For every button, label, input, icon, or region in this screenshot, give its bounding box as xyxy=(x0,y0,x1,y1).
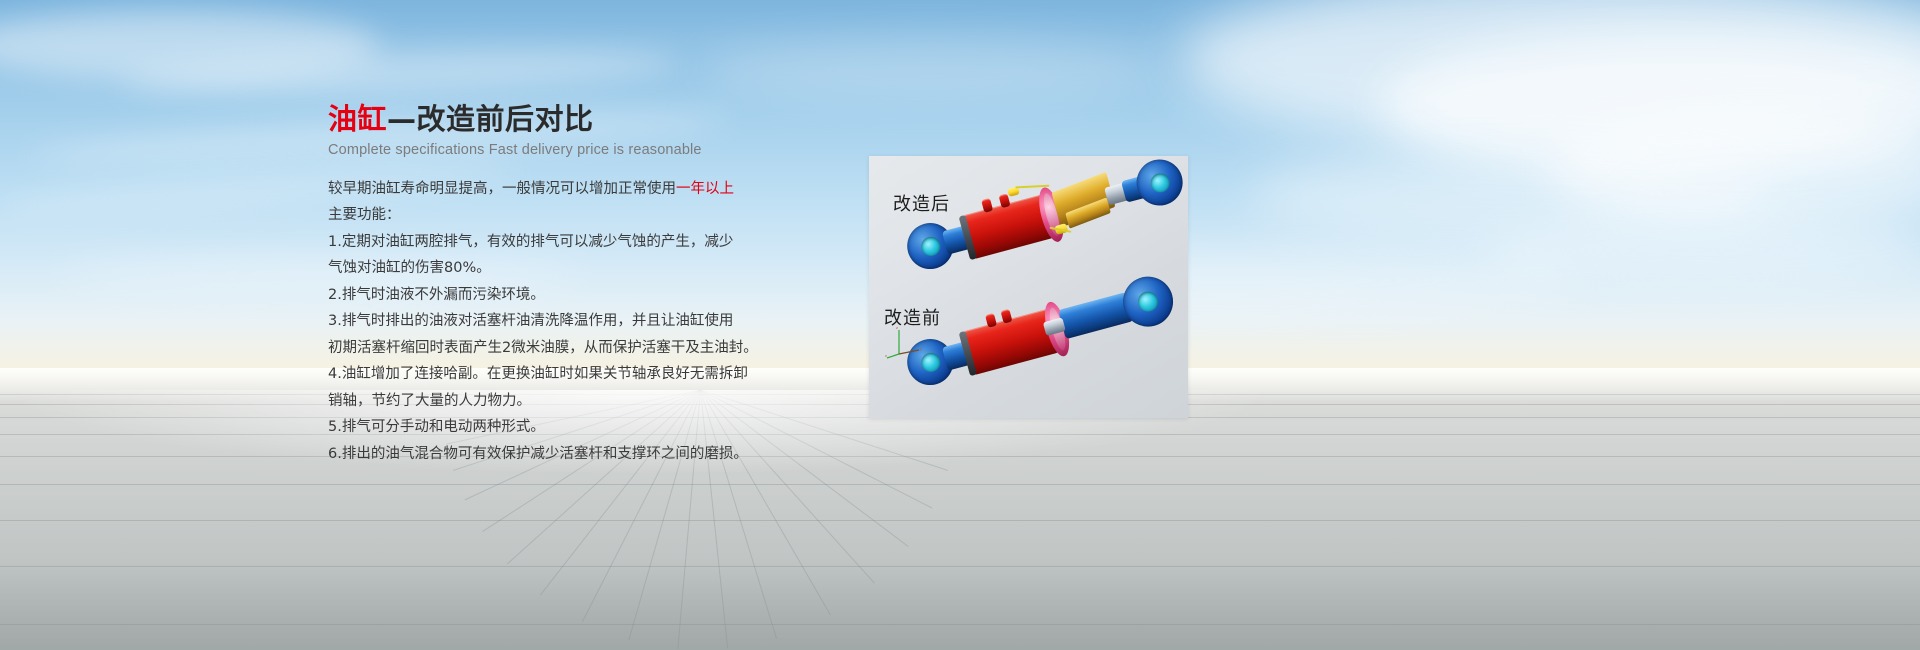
body-line: 气蚀对油缸的伤害80%。 xyxy=(328,255,848,282)
body-line: 销轴，节约了大量的人力物力。 xyxy=(328,388,848,415)
body-line: 2.排气时油液不外漏而污染环境。 xyxy=(328,282,848,309)
body-line-text: 主要功能： xyxy=(328,207,401,223)
body-line-highlight: 一年以上 xyxy=(676,181,734,197)
label-after-modification: 改造后 xyxy=(893,190,950,216)
body-line-text: 初期活塞杆缩回时表面产生2微米油膜，从而保护活塞干及主油封。 xyxy=(328,340,758,356)
svg-text:z: z xyxy=(896,325,898,330)
cloud-streak-icon xyxy=(700,40,1160,100)
body-line-text: 气蚀对油缸的伤害80%。 xyxy=(328,260,491,276)
feature-text-block: 较早期油缸寿命明显提高，一般情况可以增加正常使用一年以上 主要功能： 1.定期对… xyxy=(328,176,848,468)
body-line-text: 1.定期对油缸两腔排气，有效的排气可以减少气蚀的产生，减少 xyxy=(328,234,733,250)
body-line-text: 较早期油缸寿命明显提高，一般情况可以增加正常使用 xyxy=(328,181,676,197)
page-title-highlight: 油缸 xyxy=(328,102,387,136)
body-line: 5.排气可分手动和电动两种形式。 xyxy=(328,414,848,441)
page-title: 油缸—改造前后对比 xyxy=(328,104,848,136)
product-comparison-panel: 改造后 改造前 z y x xyxy=(869,156,1188,418)
body-line-text: 2.排气时油液不外漏而污染环境。 xyxy=(328,287,545,303)
promo-banner: 油缸—改造前后对比 Complete specifications Fast d… xyxy=(0,0,1920,650)
body-line-text: 4.油缸增加了连接哈副。在更换油缸时如果关节轴承良好无需拆卸 xyxy=(328,366,748,382)
banner-text-column: 油缸—改造前后对比 Complete specifications Fast d… xyxy=(328,104,848,467)
page-title-rest: —改造前后对比 xyxy=(387,102,594,136)
body-line: 4.油缸增加了连接哈副。在更换油缸时如果关节轴承良好无需拆卸 xyxy=(328,361,848,388)
ground-shadow xyxy=(0,560,1920,650)
body-line: 主要功能： xyxy=(328,202,848,229)
body-line: 6.排出的油气混合物可有效保护减少活塞杆和支撑环之间的磨损。 xyxy=(328,441,848,468)
body-line: 初期活塞杆缩回时表面产生2微米油膜，从而保护活塞干及主油封。 xyxy=(328,335,848,362)
body-line-text: 销轴，节约了大量的人力物力。 xyxy=(328,393,531,409)
body-line: 1.定期对油缸两腔排气，有效的排气可以减少气蚀的产生，减少 xyxy=(328,229,848,256)
xyz-axis-gizmo-icon: z y x xyxy=(885,324,925,360)
body-line: 3.排气时排出的油液对活塞杆油清洗降温作用，并且让油缸使用 xyxy=(328,308,848,335)
page-subtitle: Complete specifications Fast delivery pr… xyxy=(328,142,848,158)
body-line-text: 6.排出的油气混合物可有效保护减少活塞杆和支撑环之间的磨损。 xyxy=(328,446,748,462)
body-line-text: 5.排气可分手动和电动两种形式。 xyxy=(328,419,545,435)
svg-text:y: y xyxy=(920,346,922,351)
body-line-text: 3.排气时排出的油液对活塞杆油清洗降温作用，并且让油缸使用 xyxy=(328,313,733,329)
body-line: 较早期油缸寿命明显提高，一般情况可以增加正常使用一年以上 xyxy=(328,176,848,203)
svg-text:x: x xyxy=(885,353,887,358)
